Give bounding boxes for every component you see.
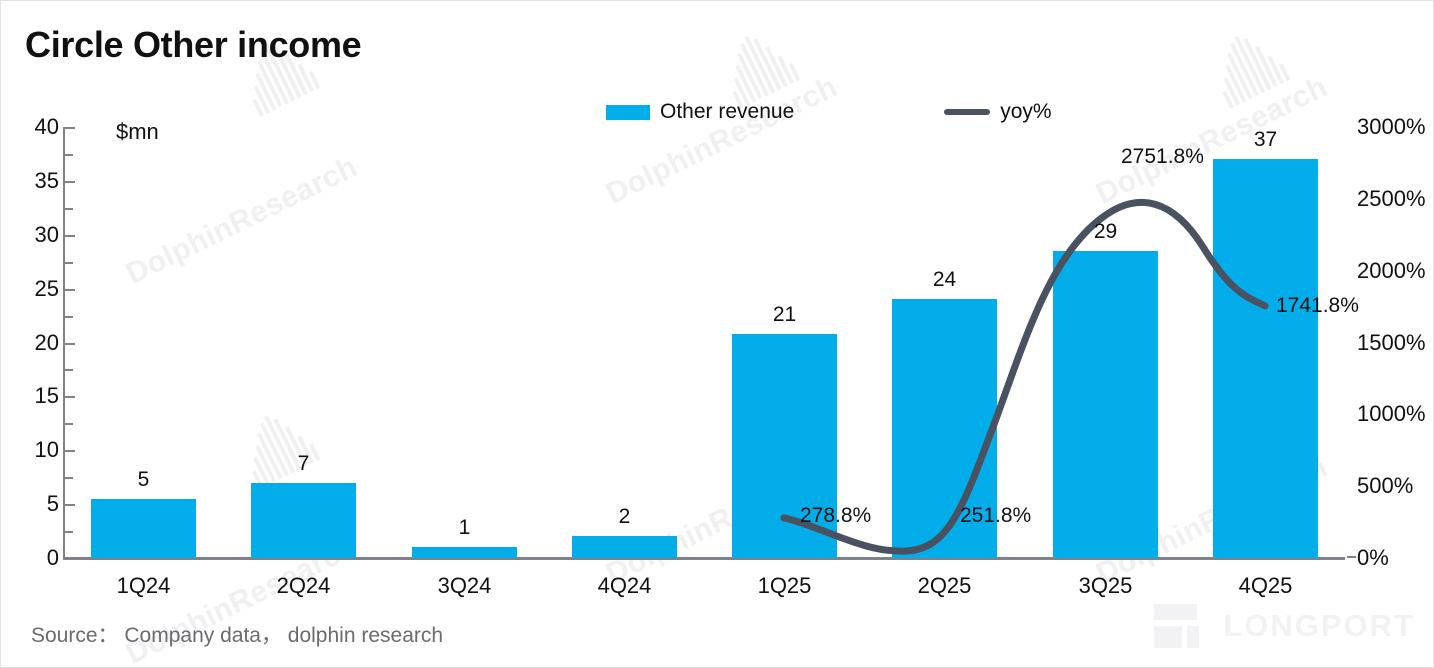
y-axis-tick-label: 0 xyxy=(15,545,59,571)
x-axis-label-1q25: 1Q25 xyxy=(732,573,837,599)
y-axis-tick-label: 30 xyxy=(15,222,59,248)
y-axis-tick-label: 20 xyxy=(15,330,59,356)
legend-item-other-revenue[interactable]: Other revenue xyxy=(606,100,794,124)
x-axis-label-3q25: 3Q25 xyxy=(1053,573,1158,599)
legend-label-other-revenue: Other revenue xyxy=(660,100,794,124)
y2-axis-tick-label: 3000% xyxy=(1357,114,1431,140)
brand-name: LONGPORT xyxy=(1223,608,1415,644)
line-value-3q25: 2751.8% xyxy=(1121,145,1204,169)
bar-value-4q25: 37 xyxy=(1213,128,1318,152)
y2-axis-tick-label: 0% xyxy=(1357,545,1431,571)
line-value-1q25: 278.8% xyxy=(800,504,871,528)
chart-page: DolphinResearch DolphinResearch DolphinR… xyxy=(0,0,1434,668)
y-axis-unit-label: $mn xyxy=(116,119,159,145)
y2-axis-tick-label: 1000% xyxy=(1357,401,1431,427)
page-title: Circle Other income xyxy=(25,24,361,66)
watermark-bars-icon xyxy=(713,24,800,109)
bar-value-1q25: 21 xyxy=(732,303,837,327)
y-axis-tick-label: 25 xyxy=(15,276,59,302)
longport-mark-icon xyxy=(1154,604,1210,648)
y2-axis-tick-label: 1500% xyxy=(1357,330,1431,356)
legend-line-swatch-icon xyxy=(944,109,990,115)
x-axis-label-2q25: 2Q25 xyxy=(892,573,997,599)
bar-value-3q24: 1 xyxy=(412,516,517,540)
x-axis-label-2q24: 2Q24 xyxy=(251,573,356,599)
x-axis-label-4q24: 4Q24 xyxy=(572,573,677,599)
y-axis-tick-label: 35 xyxy=(15,168,59,194)
source-note: Source： Company data， dolphin research xyxy=(31,619,443,649)
bar-value-2q24: 7 xyxy=(251,452,356,476)
y-axis-tick-label: 40 xyxy=(15,114,59,140)
y2-axis-tick-label: 2500% xyxy=(1357,186,1431,212)
y-axis-tick-label: 15 xyxy=(15,383,59,409)
y-axis-tick-label: 5 xyxy=(15,491,59,517)
bar-value-4q24: 2 xyxy=(572,505,677,529)
y-axis-tick-label: 10 xyxy=(15,437,59,463)
legend-label-yoy: yoy% xyxy=(1000,100,1051,124)
brand-logo: LONGPORT xyxy=(1154,604,1415,648)
chart-legend: Other revenue yoy% xyxy=(606,100,1052,124)
plot-area: 5 7 1 2 21 24 29 37 278.8% 251.8% 2751.8… xyxy=(63,127,1345,558)
watermark-bars-icon xyxy=(1203,24,1290,109)
bar-value-1q24: 5 xyxy=(91,468,196,492)
line-value-2q25: 251.8% xyxy=(960,504,1031,528)
x-axis-label-4q25: 4Q25 xyxy=(1213,573,1318,599)
line-value-4q25: 1741.8% xyxy=(1276,294,1359,318)
y2-axis-tick xyxy=(1347,556,1356,558)
legend-bar-swatch-icon xyxy=(606,105,650,120)
x-axis-label-1q24: 1Q24 xyxy=(91,573,196,599)
x-axis-label-3q24: 3Q24 xyxy=(412,573,517,599)
y2-axis-tick-label: 500% xyxy=(1357,473,1431,499)
yoy-line-series xyxy=(63,127,1345,558)
bar-value-2q25: 24 xyxy=(892,268,997,292)
bar-value-3q25: 29 xyxy=(1053,220,1158,244)
y2-axis-tick-label: 2000% xyxy=(1357,258,1431,284)
legend-item-yoy[interactable]: yoy% xyxy=(944,100,1051,124)
